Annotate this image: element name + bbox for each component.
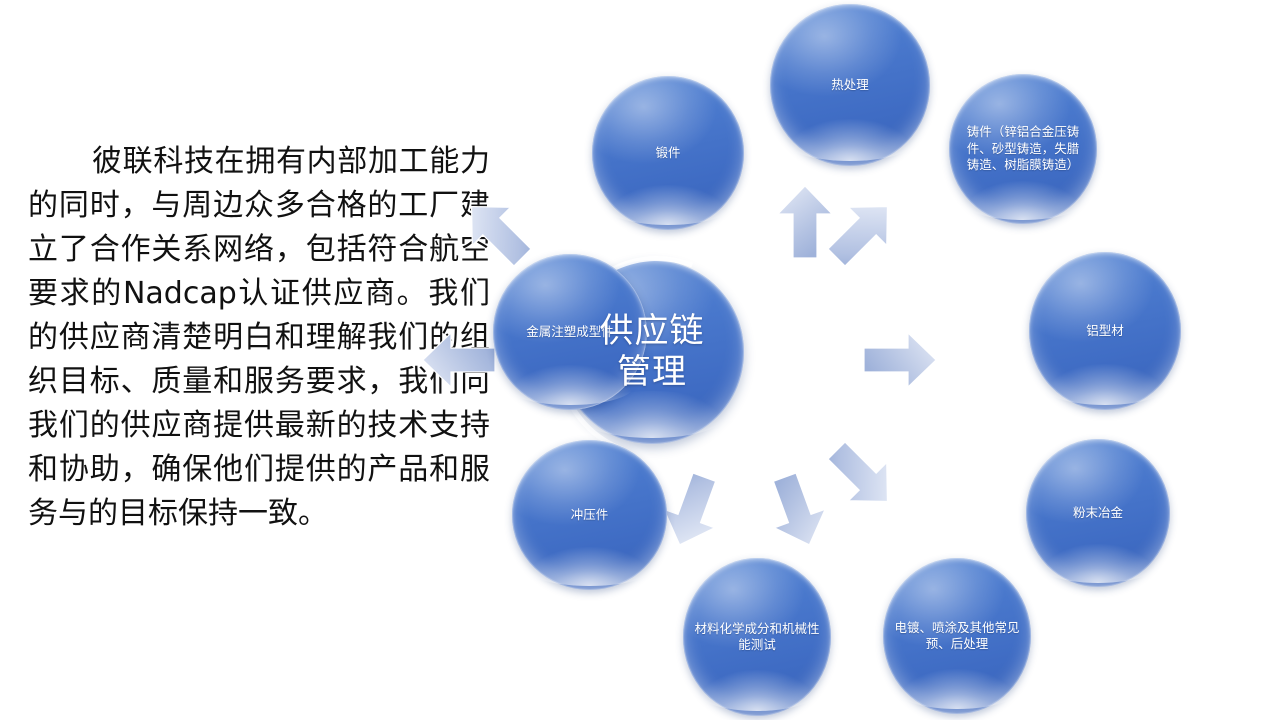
- node-forged-parts-label: 锻件: [645, 145, 690, 161]
- supply-chain-diagram: 供应链 管理 热处理 铸件（锌铝合金压铸件、砂型铸造，失腊铸造、树脂膜铸造） 铝…: [480, 0, 1280, 720]
- node-castings-label: 铸件（锌铝合金压铸件、砂型铸造，失腊铸造、树脂膜铸造）: [949, 124, 1097, 174]
- node-material-testing[interactable]: 材料化学成分和机械性能测试: [683, 558, 831, 716]
- node-aluminum-profile[interactable]: 铝型材: [1029, 252, 1181, 410]
- center-node-label-line1: 供应链: [600, 311, 705, 352]
- node-surface-treatment[interactable]: 电镀、喷涂及其他常见预、后处理: [883, 558, 1031, 714]
- center-node-label-line2: 管理: [600, 352, 705, 393]
- node-forged-parts[interactable]: 锻件: [592, 76, 744, 230]
- node-heat-treatment-label: 热处理: [821, 77, 879, 93]
- node-stamping-parts-label: 冲压件: [561, 507, 619, 523]
- arrow-right-icon: [864, 333, 936, 387]
- arrow-down-right-icon: [817, 431, 906, 520]
- node-aluminum-profile-label: 铝型材: [1076, 323, 1134, 339]
- node-stamping-parts[interactable]: 冲压件: [512, 440, 667, 590]
- node-heat-treatment[interactable]: 热处理: [770, 4, 930, 166]
- body-paragraph: 彼联科技在拥有内部加工能力的同时，与周边众多合格的工厂建立了合作关系网络，包括符…: [28, 140, 490, 536]
- node-castings[interactable]: 铸件（锌铝合金压铸件、砂型铸造，失腊铸造、树脂膜铸造）: [949, 74, 1097, 224]
- node-powder-metallurgy[interactable]: 粉末冶金: [1026, 439, 1170, 587]
- node-surface-treatment-label: 电镀、喷涂及其他常见预、后处理: [883, 620, 1031, 652]
- arrow-up-icon: [778, 186, 832, 258]
- center-node-label: 供应链 管理: [600, 311, 705, 394]
- node-powder-metallurgy-label: 粉末冶金: [1063, 505, 1133, 521]
- slide-canvas: 彼联科技在拥有内部加工能力的同时，与周边众多合格的工厂建立了合作关系网络，包括符…: [0, 0, 1280, 720]
- arrow-down-icon: [759, 468, 834, 554]
- arrow-up-right-icon: [817, 187, 906, 276]
- node-material-testing-label: 材料化学成分和机械性能测试: [683, 621, 831, 653]
